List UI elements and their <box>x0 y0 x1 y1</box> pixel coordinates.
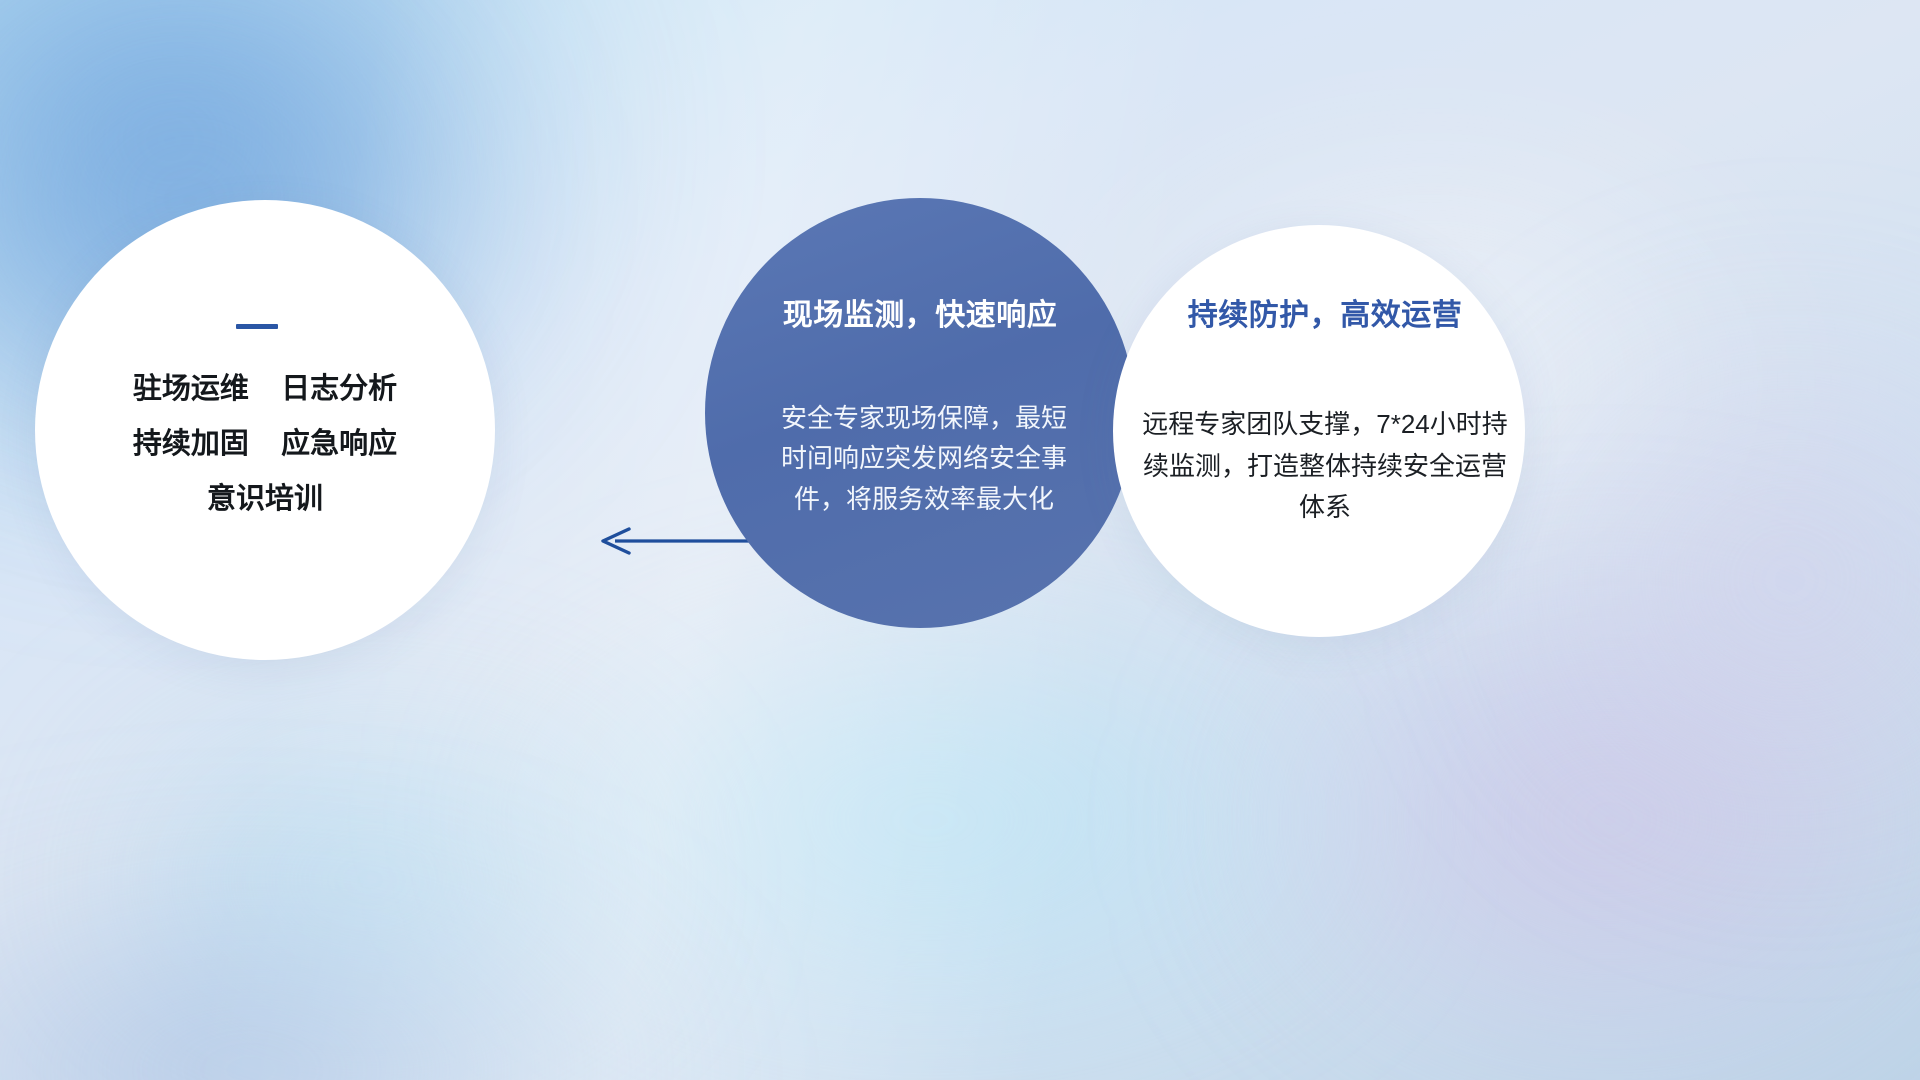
left-service-list: 驻场运维 日志分析 持续加固 应急响应 意识培训 <box>35 375 495 514</box>
left-divider-mark <box>236 324 278 329</box>
middle-circle-body: 安全专家现场保障，最短时间响应突发网络安全事件，将服务效率最大化 <box>774 398 1074 519</box>
left-service-row-3: 意识培训 <box>35 485 495 514</box>
right-circle-content: 持续防护，高效运营 远程专家团队支撑，7*24小时持续监测，打造整体持续安全运营… <box>1125 290 1525 529</box>
left-service-row-1: 驻场运维 日志分析 <box>35 375 495 404</box>
right-circle-title: 持续防护，高效运营 <box>1125 290 1525 334</box>
left-service-row-2: 持续加固 应急响应 <box>35 430 495 459</box>
middle-circle-title: 现场监测，快速响应 <box>712 290 1128 334</box>
right-circle-body: 远程专家团队支撑，7*24小时持续监测，打造整体持续安全运营体系 <box>1138 404 1512 529</box>
middle-circle-content: 现场监测，快速响应 安全专家现场保障，最短时间响应突发网络安全事件，将服务效率最… <box>712 290 1128 519</box>
